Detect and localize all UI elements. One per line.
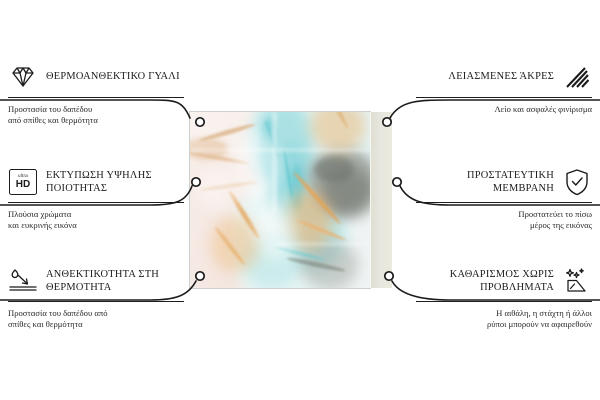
feature-heat-durability: ΑΝΘΕΚΤΙΚΟΤΗΤΑ ΣΤΗ ΘΕΡΜΟΤΗΤΑ Προστασία το… <box>8 266 184 331</box>
glass-reflection-vertical <box>272 112 277 212</box>
feature-description: Προστατεύει το πίσω μέρος της εικόνας <box>416 209 592 232</box>
feature-description: Προστασία του δαπέδου από σπίθες και θερ… <box>8 308 184 331</box>
feature-title: ΠΡΟΣΤΑΤΕΥΤΙΚΗ ΜΕΜΒΡΑΝΗ <box>416 169 554 196</box>
feature-header: ultra HD ΕΚΤΥΠΩΣΗ ΥΨΗΛΗΣ ΠΟΙΟΤΗΤΑΣ <box>8 167 184 197</box>
feature-high-quality-print: ultra HD ΕΚΤΥΠΩΣΗ ΥΨΗΛΗΣ ΠΟΙΟΤΗΤΑΣ Πλούσ… <box>8 167 184 232</box>
feature-header: ΛΕΙΑΣΜΕΝΕΣ ΆΚΡΕΣ <box>416 62 592 92</box>
glass-reflection-horizontal <box>190 148 370 152</box>
feature-divider <box>8 301 184 302</box>
infographic-canvas: ΘΕΡΜΟΑΝΘΕΚΤΙΚΟ ΓΥΑΛΙ Προστασία του δαπέδ… <box>0 0 600 400</box>
panel-side-edge <box>370 112 392 288</box>
polished-edges-icon <box>562 62 592 92</box>
ultra-hd-label-bottom: HD <box>16 180 30 190</box>
feature-description: Πλούσια χρώματα και ευκρινής εικόνα <box>8 209 184 232</box>
feature-header: ΘΕΡΜΟΑΝΘΕΚΤΙΚΟ ΓΥΑΛΙ <box>8 62 184 92</box>
easy-clean-sparkle-icon <box>562 266 592 296</box>
feature-polished-edges: ΛΕΙΑΣΜΕΝΕΣ ΆΚΡΕΣ Λείο και ασφαλές φινίρι… <box>416 62 592 115</box>
glass-panel-artwork <box>190 112 370 288</box>
feature-divider <box>416 301 592 302</box>
feature-easy-cleaning: ΚΑΘΑΡΙΣΜΟΣ ΧΩΡΙΣ ΠΡΟΒΛΗΜΑΤΑ Η αιθάλη, η … <box>416 266 592 331</box>
feature-divider <box>8 202 184 203</box>
ultra-hd-icon: ultra HD <box>8 167 38 197</box>
feature-protective-membrane: ΠΡΟΣΤΑΤΕΥΤΙΚΗ ΜΕΜΒΡΑΝΗ Προστατεύει το πί… <box>416 167 592 232</box>
feature-heat-resistant-glass: ΘΕΡΜΟΑΝΘΕΚΤΙΚΟ ΓΥΑΛΙ Προστασία του δαπέδ… <box>8 62 184 127</box>
feature-header: ΚΑΘΑΡΙΣΜΟΣ ΧΩΡΙΣ ΠΡΟΒΛΗΜΑΤΑ <box>416 266 592 296</box>
feature-divider <box>8 97 184 98</box>
glass-reflection-horizontal-2 <box>276 242 370 246</box>
feature-header: ΑΝΘΕΚΤΙΚΟΤΗΤΑ ΣΤΗ ΘΕΡΜΟΤΗΤΑ <box>8 266 184 296</box>
feature-title: ΕΚΤΥΠΩΣΗ ΥΨΗΛΗΣ ΠΟΙΟΤΗΤΑΣ <box>46 169 184 196</box>
feature-divider <box>416 202 592 203</box>
feature-divider <box>416 97 592 98</box>
feature-title: ΛΕΙΑΣΜΕΝΕΣ ΆΚΡΕΣ <box>448 70 554 84</box>
diamond-icon <box>8 62 38 92</box>
feature-title: ΚΑΘΑΡΙΣΜΟΣ ΧΩΡΙΣ ΠΡΟΒΛΗΜΑΤΑ <box>416 268 554 295</box>
feature-description: Η αιθάλη, η στάχτη ή άλλοι ρύποι μπορούν… <box>416 308 592 331</box>
feature-description: Προστασία του δαπέδου από σπίθες και θερ… <box>8 104 184 127</box>
heat-resistance-icon <box>8 266 38 296</box>
feature-title: ΑΝΘΕΚΤΙΚΟΤΗΤΑ ΣΤΗ ΘΕΡΜΟΤΗΤΑ <box>46 268 184 295</box>
feature-description: Λείο και ασφαλές φινίρισμα <box>416 104 592 115</box>
feature-header: ΠΡΟΣΤΑΤΕΥΤΙΚΗ ΜΕΜΒΡΑΝΗ <box>416 167 592 197</box>
shield-check-icon <box>562 167 592 197</box>
feature-title: ΘΕΡΜΟΑΝΘΕΚΤΙΚΟ ΓΥΑΛΙ <box>46 70 180 84</box>
product-image <box>190 112 392 288</box>
